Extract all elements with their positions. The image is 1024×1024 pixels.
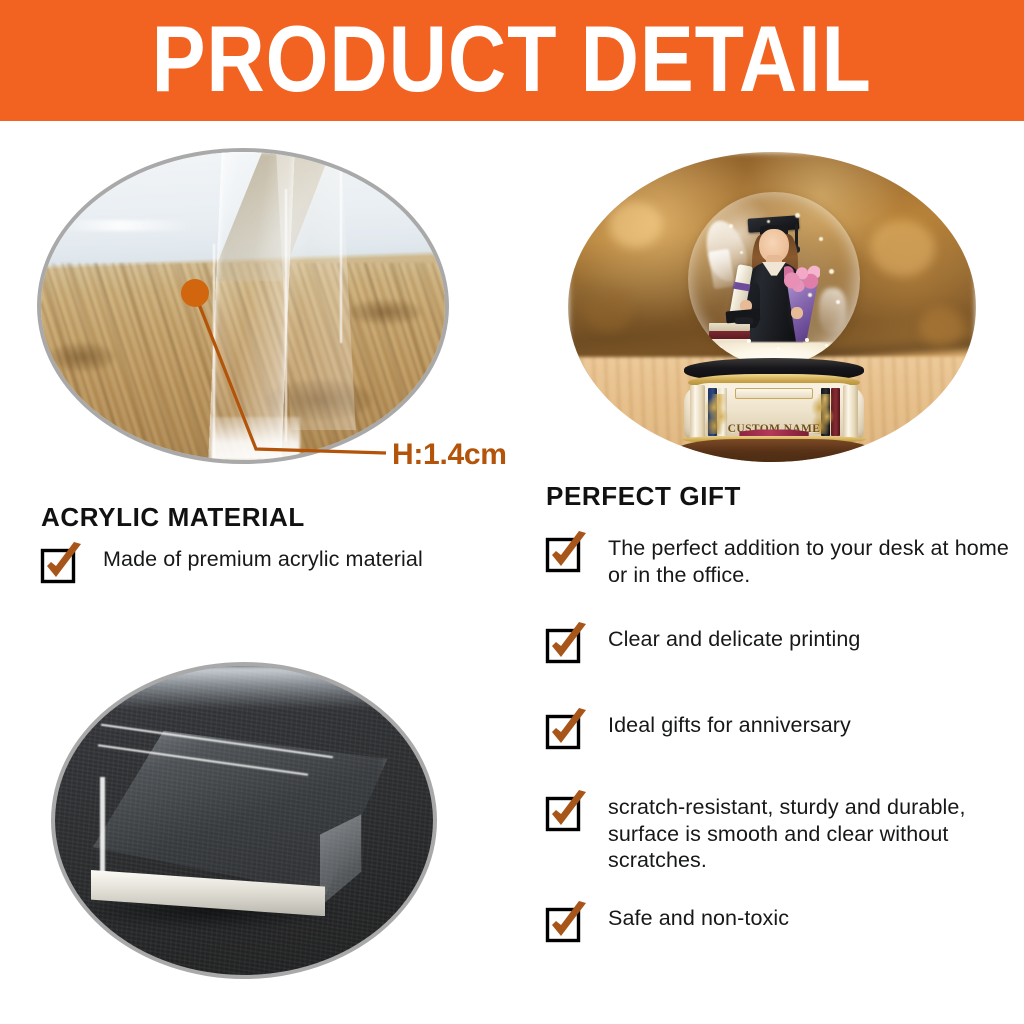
feature-item-safe-non-toxic: Safe and non-toxic [548,904,1010,942]
checkbox-checked-icon[interactable] [548,795,584,831]
header-banner: PRODUCT DETAIL [0,0,1024,121]
acrylic-edge-highlight [340,164,342,343]
feature-text: The perfect addition to your desk at hom… [608,535,1010,588]
photo-graduation-snowglobe: CUSTOM NAME Class Of 2026 [568,152,976,462]
bokeh-light [584,288,633,331]
bouquet-flowers [784,265,820,293]
glass-highlight [819,288,846,333]
photo-graduation-snowglobe-content: CUSTOM NAME Class Of 2026 [568,152,976,462]
feature-item-ideal-gifts: Ideal gifts for anniversary [548,711,1010,749]
sparkle [819,237,823,241]
snow-grain [719,346,722,349]
slate-top-edge-light [85,666,403,709]
feature-text: scratch-resistant, sturdy and durable, s… [608,794,1010,874]
acrylic-base-reflection [211,417,300,460]
feature-item-perfect-addition: The perfect addition to your desk at hom… [548,534,1010,588]
page-title: PRODUCT DETAIL [152,12,872,110]
acrylic-edge-highlight [285,189,287,442]
bokeh-light [609,202,662,249]
base-column [843,385,858,438]
acrylic-edge-highlight [100,777,105,876]
snow-grain [805,338,809,342]
bokeh-light [870,220,935,276]
checkbox-checked-icon[interactable] [548,906,584,942]
photo-acrylic-block-edge-content [41,152,445,460]
checkbox-checked-icon[interactable] [548,713,584,749]
feature-item-clear-printing: Clear and delicate printing [548,625,1010,663]
photo-acrylic-block-on-slate-content [55,666,433,975]
feature-text: Made of premium acrylic material [103,546,423,573]
photo-acrylic-block-on-slate [51,662,437,979]
bokeh-light [919,307,964,347]
book [709,323,750,331]
glass-sphere [688,192,859,366]
checkbox-checked-icon[interactable] [548,536,584,572]
feature-text: Clear and delicate printing [608,626,861,653]
mini-graduation-cap-crown [735,317,754,324]
snow-grain [747,339,751,343]
height-callout-label: H:1.4cm [392,438,507,472]
figurine-hand [791,307,803,319]
feature-text: Safe and non-toxic [608,905,789,932]
acrylic-front-face [208,152,294,460]
photo-acrylic-block-edge [37,148,449,464]
wall-highlight [57,220,194,231]
feature-text: Ideal gifts for anniversary [608,712,851,739]
base-drop-shadow [658,454,886,462]
section-heading-perfect-gift: PERFECT GIFT [546,481,741,512]
book [709,331,750,339]
sparkle [829,269,834,274]
feature-item-scratch-resistant: scratch-resistant, sturdy and durable, s… [548,793,1010,874]
sparkle [795,213,800,218]
checkbox-checked-icon[interactable] [548,627,584,663]
wood-knot [49,343,114,371]
checkbox-checked-icon[interactable] [43,547,79,583]
base-engraving-plaque: CUSTOM NAME Class Of 2026 [709,389,840,436]
feature-item-acrylic-material: Made of premium acrylic material [43,545,513,583]
section-heading-acrylic-material: ACRYLIC MATERIAL [41,502,305,533]
